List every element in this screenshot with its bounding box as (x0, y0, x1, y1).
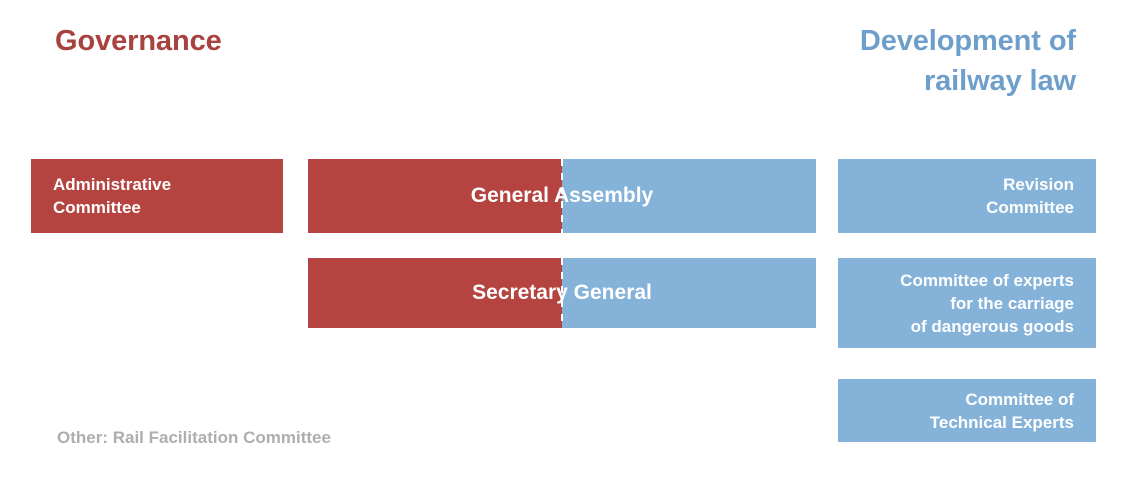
box-general-assembly-label: General Assembly (308, 159, 816, 233)
box-committee-of-experts-dangerous-goods-label: Committee of experts for the carriage of… (838, 269, 1096, 338)
heading-development-of-railway-law: Development of railway law (860, 21, 1076, 101)
box-administrative-committee-label: Administrative Committee (31, 173, 283, 219)
footnote-other-bodies: Other: Rail Facilitation Committee (57, 427, 331, 449)
box-secretary-general[interactable]: Secretary General (308, 258, 816, 328)
box-administrative-committee[interactable]: Administrative Committee (31, 159, 283, 233)
box-committee-of-technical-experts-label: Committee of Technical Experts (838, 388, 1096, 434)
box-general-assembly[interactable]: General Assembly (308, 159, 816, 233)
box-secretary-general-label: Secretary General (308, 258, 816, 328)
box-committee-of-experts-dangerous-goods[interactable]: Committee of experts for the carriage of… (838, 258, 1096, 348)
heading-governance: Governance (55, 21, 222, 61)
organisational-structure-diagram: Governance Development of railway law Ad… (0, 0, 1124, 477)
box-revision-committee-label: Revision Committee (838, 173, 1096, 219)
box-revision-committee[interactable]: Revision Committee (838, 159, 1096, 233)
box-committee-of-technical-experts[interactable]: Committee of Technical Experts (838, 379, 1096, 442)
